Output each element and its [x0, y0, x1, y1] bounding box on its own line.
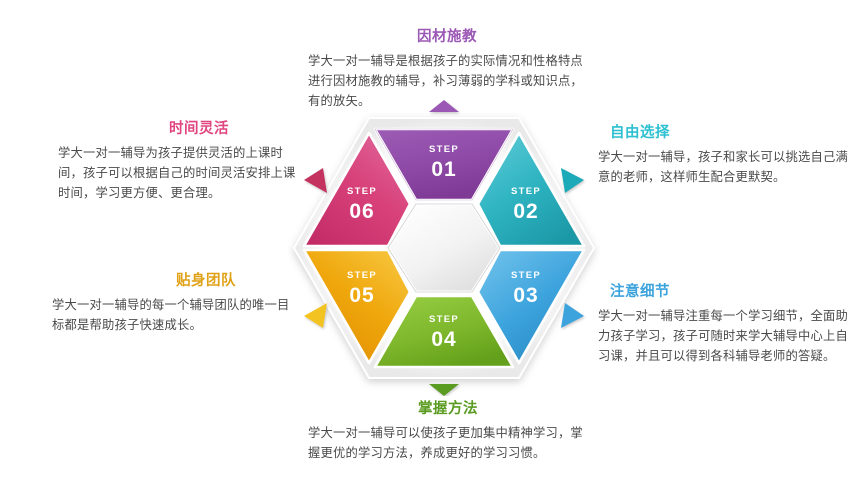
- hex-segment-step-04-word: STEP: [429, 314, 459, 325]
- info-block-left-bottom: 贴身团队 学大一对一辅导的每一个辅导团队的唯一目标都是帮助孩子快速成长。: [52, 272, 300, 336]
- hex-segment-step-05-word: STEP: [347, 270, 377, 281]
- arrow-lower-right-icon: [561, 303, 584, 328]
- hex-segment-step-02-number: 02: [513, 200, 538, 223]
- info-block-right-bottom: 注意细节 学大一对一辅导注重每一个学习细节，全面助力孩子学习，孩子可随时来学大辅…: [598, 283, 852, 367]
- infographic-canvas: 因材施教 学大一对一辅导是根据孩子的实际情况和性格特点进行因材施教的辅导，补习薄…: [0, 0, 860, 482]
- info-block-left-bottom-title: 贴身团队: [52, 272, 300, 290]
- hexagon-step-wheel: STEP 01 STEP 02 STEP 03 STEP 04: [288, 100, 600, 396]
- info-block-left-top: 时间灵活 学大一对一辅导为孩子提供灵活的上课时间，孩子可以根据自己的时间灵活安排…: [58, 120, 300, 204]
- hex-segment-step-04-number: 04: [431, 328, 456, 351]
- info-block-bottom: 掌握方法 学大一对一辅导可以使孩子更加集中精神学习，掌握更优的学习方法，养成更好…: [308, 400, 588, 464]
- info-block-left-top-title: 时间灵活: [58, 120, 300, 138]
- arrow-down-icon: [429, 384, 459, 396]
- hex-segment-step-06-word: STEP: [347, 186, 377, 197]
- info-block-left-bottom-body: 学大一对一辅导的每一个辅导团队的唯一目标都是帮助孩子快速成长。: [52, 296, 300, 336]
- hex-segment-step-02-word: STEP: [511, 186, 541, 197]
- hex-segment-step-06-number: 06: [349, 200, 374, 223]
- info-block-bottom-body: 学大一对一辅导可以使孩子更加集中精神学习，掌握更优的学习方法，养成更好的学习习惯…: [308, 424, 588, 464]
- hex-segment-step-01-number: 01: [431, 158, 456, 181]
- info-block-top-title: 因材施教: [308, 28, 586, 46]
- hex-segment-step-03-number: 03: [513, 284, 538, 307]
- info-block-bottom-title: 掌握方法: [308, 400, 588, 418]
- info-block-right-top-title: 自由选择: [598, 124, 850, 142]
- hex-segment-step-05-number: 05: [349, 284, 374, 307]
- hex-segment-step-03-word: STEP: [511, 270, 541, 281]
- info-block-right-bottom-title: 注意细节: [598, 283, 852, 301]
- hex-segment-step-01-word: STEP: [429, 144, 459, 155]
- arrow-upper-left-icon: [304, 168, 327, 193]
- info-block-right-top-body: 学大一对一辅导，孩子和家长可以挑选自己满意的老师，这样师生配合更默契。: [598, 148, 850, 188]
- arrow-upper-right-icon: [561, 168, 584, 193]
- arrow-lower-left-icon: [304, 303, 327, 328]
- info-block-left-top-body: 学大一对一辅导为孩子提供灵活的上课时间，孩子可以根据自己的时间灵活安排上课时间，…: [58, 144, 300, 204]
- arrow-up-icon: [429, 100, 459, 112]
- info-block-right-bottom-body: 学大一对一辅导注重每一个学习细节，全面助力孩子学习，孩子可随时来学大辅导中心上自…: [598, 307, 852, 367]
- info-block-right-top: 自由选择 学大一对一辅导，孩子和家长可以挑选自己满意的老师，这样师生配合更默契。: [598, 124, 850, 188]
